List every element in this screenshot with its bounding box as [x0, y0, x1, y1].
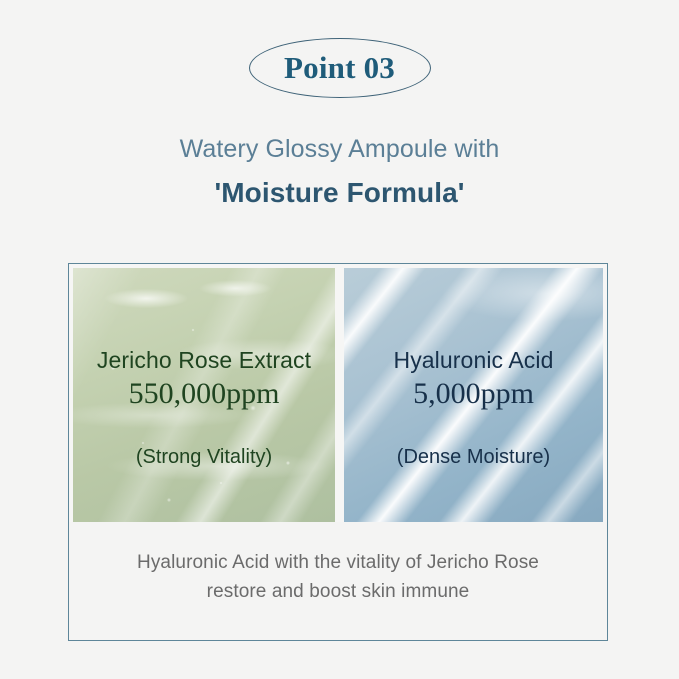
jericho-rose-amount: 550,000ppm: [129, 377, 280, 411]
hyaluronic-acid-note: (Dense Moisture): [397, 445, 550, 469]
caption-line-2: restore and boost skin immune: [207, 577, 470, 606]
caption-line-1: Hyaluronic Acid with the vitality of Jer…: [137, 548, 539, 577]
jericho-rose-name: Jericho Rose Extract: [97, 346, 311, 374]
ingredient-panel-hyaluronic-acid: Hyaluronic Acid 5,000ppm (Dense Moisture…: [344, 268, 603, 522]
hyaluronic-acid-name: Hyaluronic Acid: [393, 346, 553, 374]
subtitle-block: Watery Glossy Ampoule with 'Moisture For…: [0, 131, 679, 213]
ingredient-panels: Jericho Rose Extract 550,000ppm (Strong …: [69, 264, 607, 522]
jericho-rose-text-block: Jericho Rose Extract 550,000ppm (Strong …: [73, 268, 335, 522]
hyaluronic-acid-text-block: Hyaluronic Acid 5,000ppm (Dense Moisture…: [344, 268, 603, 522]
point-badge-ellipse: Point 03: [249, 38, 431, 98]
jericho-rose-note: (Strong Vitality): [136, 445, 272, 469]
point-badge-label: Point 03: [284, 52, 395, 85]
point-badge-container: Point 03: [0, 38, 679, 98]
subtitle-line-1: Watery Glossy Ampoule with: [0, 131, 679, 167]
ingredient-panel-jericho-rose: Jericho Rose Extract 550,000ppm (Strong …: [73, 268, 335, 522]
hyaluronic-acid-amount: 5,000ppm: [413, 377, 534, 411]
caption-block: Hyaluronic Acid with the vitality of Jer…: [69, 522, 607, 640]
ingredient-comparison-frame: Jericho Rose Extract 550,000ppm (Strong …: [68, 263, 608, 641]
subtitle-line-2: 'Moisture Formula': [0, 173, 679, 213]
